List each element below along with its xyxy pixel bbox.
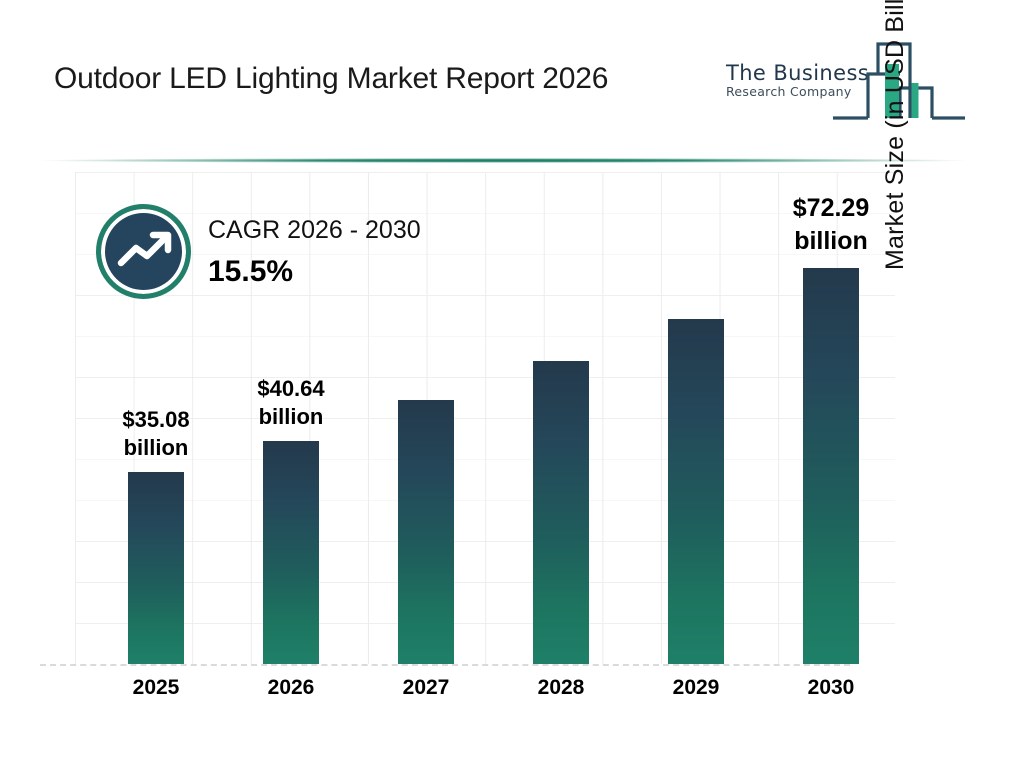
- bar-2026: [263, 441, 319, 664]
- bar-value-amount: $40.64: [206, 375, 376, 403]
- chart-baseline: [40, 664, 850, 666]
- x-axis-tick-2028: 2028: [506, 676, 616, 700]
- cagr-period-label: CAGR 2026 - 2030: [208, 216, 421, 245]
- bar-value-unit: billion: [71, 434, 241, 462]
- x-axis-tick-2026: 2026: [236, 676, 346, 700]
- x-axis-tick-2029: 2029: [641, 676, 751, 700]
- bar-value-unit: billion: [206, 403, 376, 431]
- bar-2030: [803, 268, 859, 664]
- bar-2029: [668, 319, 724, 664]
- header-divider: [38, 158, 970, 163]
- bar-value-label-2026: $40.64billion: [206, 375, 376, 431]
- company-logo: The Business Research Company: [726, 36, 966, 122]
- bar-2025: [128, 472, 184, 664]
- chart-x-axis: 202520262027202820292030: [75, 676, 895, 716]
- x-axis-tick-2030: 2030: [776, 676, 886, 700]
- x-axis-tick-2027: 2027: [371, 676, 481, 700]
- bar-2028: [533, 361, 589, 664]
- chart-y-axis-title: Market Size (in USD Billion): [881, 0, 915, 270]
- bar-2027: [398, 400, 454, 664]
- trending-up-icon: [96, 204, 191, 299]
- cagr-value-label: 15.5%: [208, 255, 293, 289]
- header: Outdoor LED Lighting Market Report 2026 …: [0, 0, 1024, 150]
- page-title: Outdoor LED Lighting Market Report 2026: [54, 62, 608, 96]
- x-axis-tick-2025: 2025: [101, 676, 211, 700]
- cagr-badge: CAGR 2026 - 2030 15.5%: [96, 200, 496, 310]
